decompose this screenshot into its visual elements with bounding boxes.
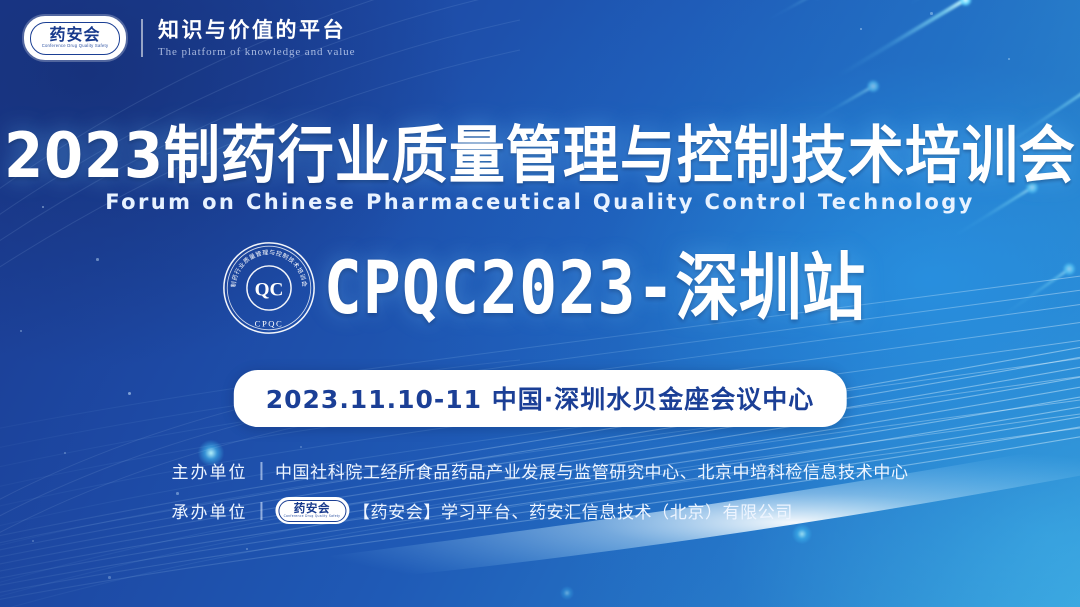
tagline-cn: 知识与价值的平台 [158, 18, 355, 42]
brand-logo-en: Conference Drug Quality Safety [42, 44, 109, 49]
organizer-row-coordinator: 承办单位 药安会 Conference Drug Quality Safety … [171, 497, 908, 524]
brand-logo-inner: 药安会 Conference Drug Quality Safety [30, 22, 120, 55]
header: 药安会 Conference Drug Quality Safety 知识与价值… [24, 16, 355, 60]
seal-center-text: QC [254, 280, 283, 301]
organizer-row-host: 主办单位 中国社科院工经所食品药品产业发展与监管研究中心、北京中培科检信息技术中… [171, 458, 908, 483]
header-divider [141, 19, 143, 57]
tagline-en: The platform of knowledge and value [158, 46, 355, 58]
main-title-en: Forum on Chinese Pharmaceutical Quality … [0, 190, 1080, 214]
tagline-block: 知识与价值的平台 The platform of knowledge and v… [158, 18, 355, 58]
organizer-separator [260, 462, 262, 480]
brand-logo[interactable]: 药安会 Conference Drug Quality Safety [24, 16, 126, 60]
event-code-row: 制药行业质量管理与控制技术培训会 QC CPQC CPQC2023-深圳站 [0, 240, 1080, 336]
brand-logo-cn: 药安会 [49, 27, 100, 43]
seal-bottom-text: CPQC [254, 318, 283, 328]
organizer-separator [260, 502, 262, 520]
event-city: 深圳站 [675, 244, 865, 330]
cpqc-seal-icon: 制药行业质量管理与控制技术培训会 QC CPQC [221, 240, 317, 336]
organizer-value-host: 中国社科院工经所食品药品产业发展与监管研究中心、北京中培科检信息技术中心 [275, 458, 909, 483]
main-title-cn: 2023制药行业质量管理与控制技术培训会 [0, 105, 1080, 196]
organizer-label-coordinator: 承办单位 [171, 498, 247, 523]
organizer-brand-en: Conference Drug Quality Safety [284, 515, 341, 518]
organizer-value-coordinator: 【药安会】学习平台、药安汇信息技术（北京）有限公司 [353, 498, 793, 523]
organizer-brand-logo[interactable]: 药安会 Conference Drug Quality Safety [275, 497, 349, 524]
event-code-text: CPQC2023-深圳站 [323, 251, 865, 324]
date-venue-badge: 2023.11.10-11 中国·深圳水贝金座会议中心 [234, 370, 847, 427]
organizer-brand-logo-inner: 药安会 Conference Drug Quality Safety [278, 500, 346, 522]
event-code-latin: CPQC2023- [323, 244, 675, 330]
event-poster: 药安会 Conference Drug Quality Safety 知识与价值… [0, 0, 1080, 607]
organizers-block: 主办单位 中国社科院工经所食品药品产业发展与监管研究中心、北京中培科检信息技术中… [171, 458, 908, 524]
organizer-label-host: 主办单位 [171, 458, 247, 483]
